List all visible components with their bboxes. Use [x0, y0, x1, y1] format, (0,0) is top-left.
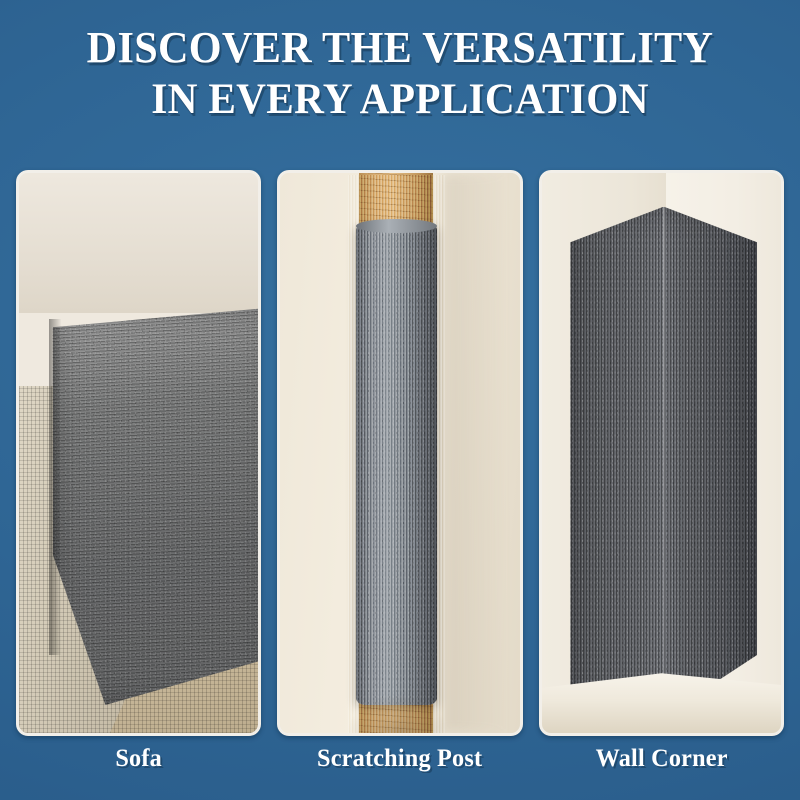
- caption-wall-corner: Wall Corner: [542, 742, 780, 776]
- photo-sofa: [19, 173, 258, 733]
- headline: DISCOVER THE VERSATILITY IN EVERY APPLIC…: [16, 22, 784, 126]
- promo-poster: DISCOVER THE VERSATILITY IN EVERY APPLIC…: [0, 0, 800, 800]
- headline-line-2: IN EVERY APPLICATION: [16, 74, 784, 126]
- carpet-wrap-on-post: [356, 223, 437, 705]
- carpet-mat-fold-shadow: [49, 319, 61, 655]
- photo-wall-corner: [542, 173, 781, 733]
- headline-line-1: DISCOVER THE VERSATILITY: [16, 22, 784, 74]
- post-floor-shadow: [347, 694, 448, 733]
- post-wall-shadow: [443, 173, 500, 733]
- carpet-wrap-speckle-texture: [356, 223, 437, 705]
- sofa-wall: [19, 173, 258, 313]
- photo-scratching-post: [280, 173, 519, 733]
- panel-wall-corner[interactable]: [539, 170, 784, 736]
- panel-scratching-post[interactable]: [277, 170, 522, 736]
- corner-edge-highlight: [663, 207, 665, 717]
- panel-row: [16, 170, 784, 736]
- caption-row: Sofa Scratching Post Wall Corner: [16, 742, 784, 776]
- caption-scratching-post: Scratching Post: [281, 742, 519, 776]
- caption-sofa: Sofa: [20, 742, 258, 776]
- panel-sofa[interactable]: [16, 170, 261, 736]
